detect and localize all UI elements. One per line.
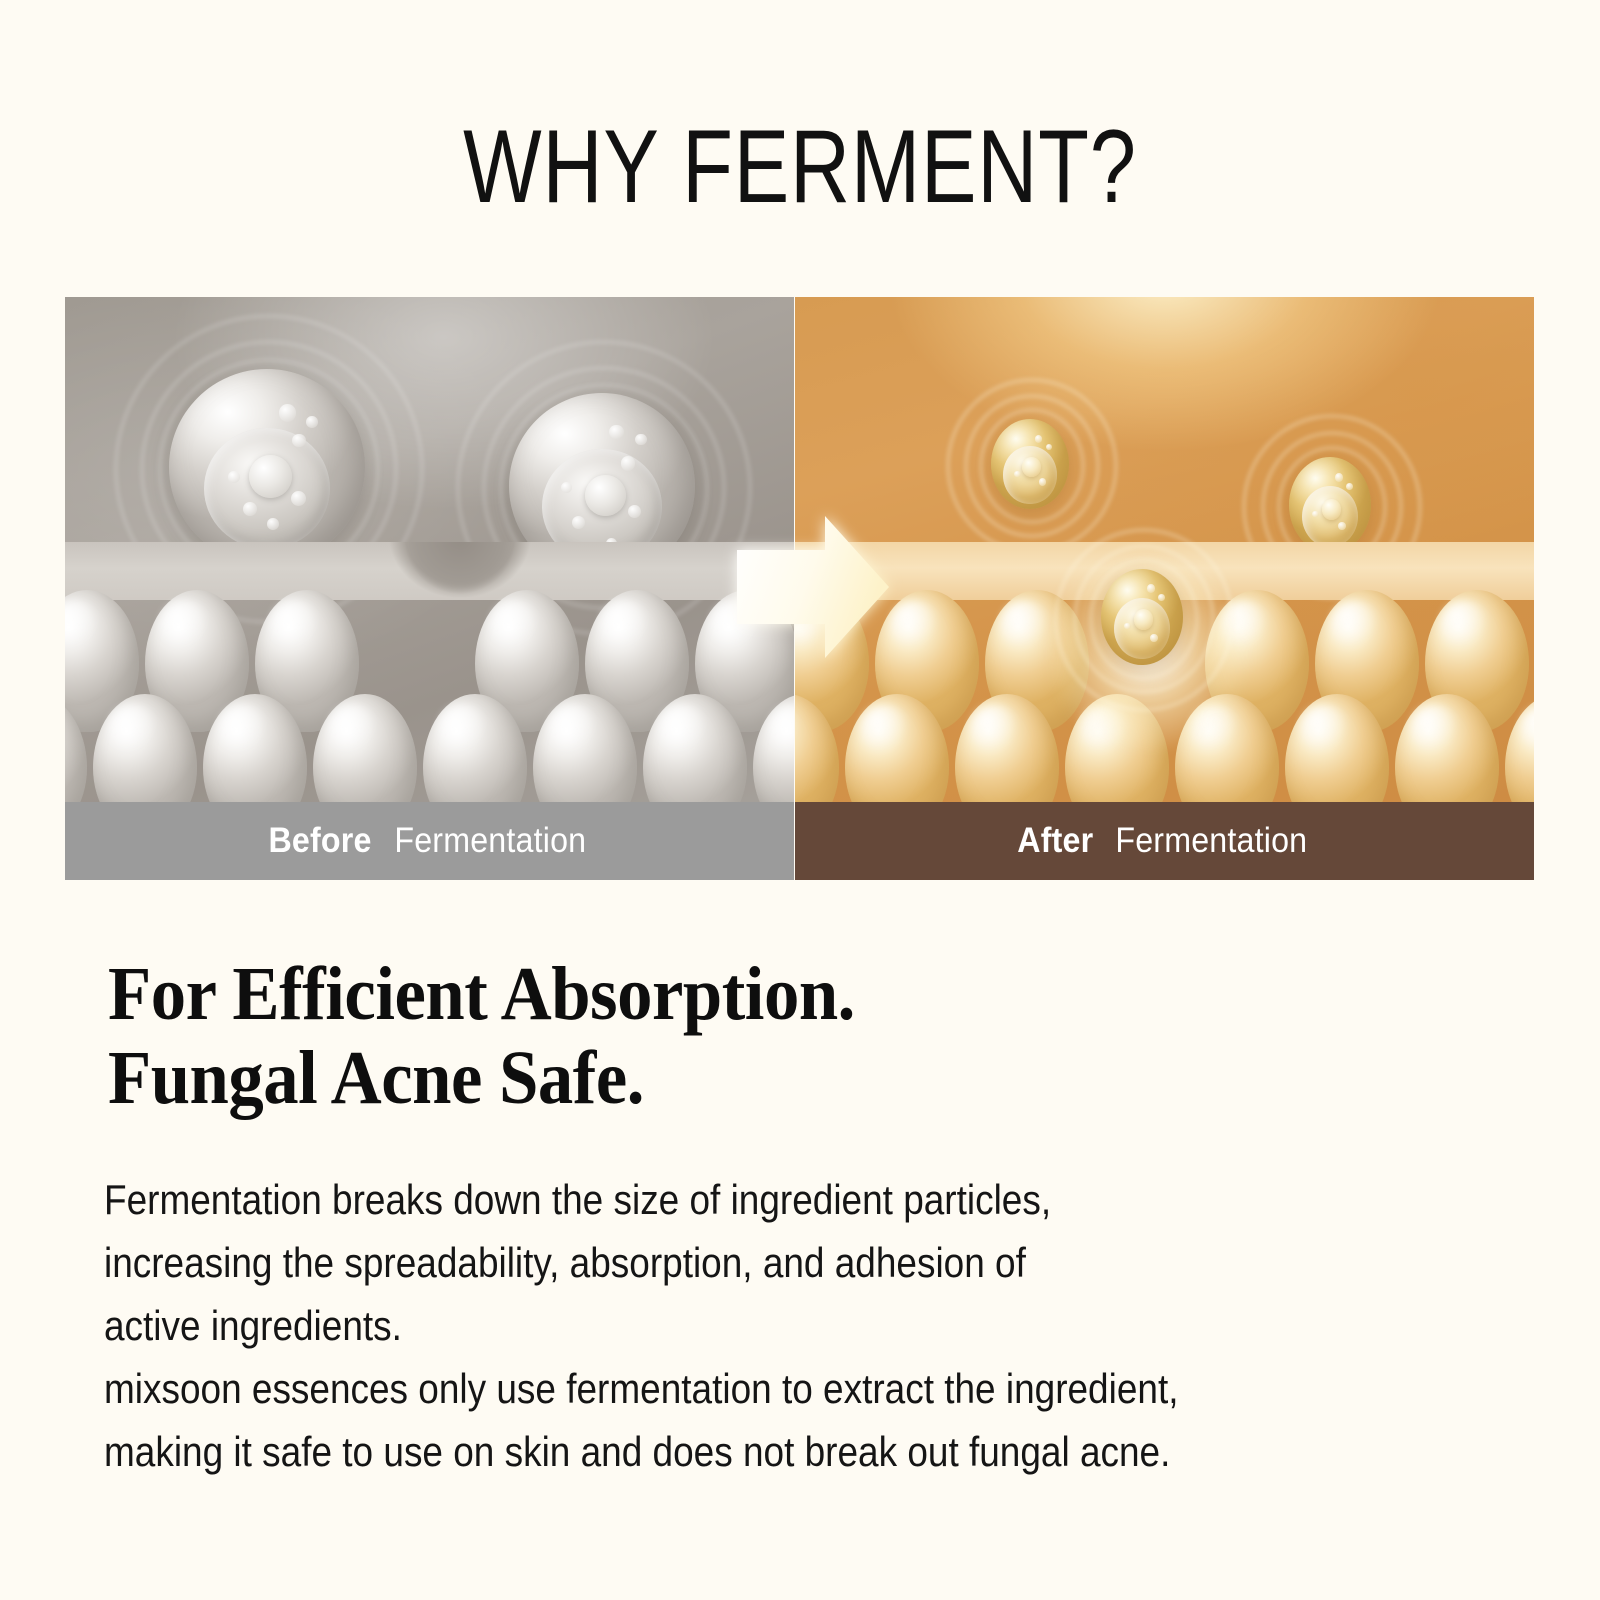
micro-bubble xyxy=(609,425,624,440)
body-copy: Fermentation breaks down the size of ing… xyxy=(104,1168,1354,1483)
molecule-body xyxy=(991,419,1069,509)
skin-cell xyxy=(203,694,307,802)
molecule-gold-1 xyxy=(991,419,1069,509)
micro-bubble xyxy=(628,505,641,518)
headline-line-1: For Efficient Absorption. xyxy=(108,952,1410,1036)
transition-arrow xyxy=(713,492,903,682)
body-line: making it safe to use on skin and does n… xyxy=(104,1420,1354,1483)
skin-cell xyxy=(65,694,87,802)
after-caption-bar: After Fermentation xyxy=(795,802,1534,880)
molecule-body xyxy=(1289,457,1371,553)
micro-bubble xyxy=(572,516,585,529)
micro-bubble xyxy=(1150,634,1157,642)
micro-bubble xyxy=(228,471,240,483)
micro-bubble xyxy=(279,404,297,422)
body-line: increasing the spreadability, absorption… xyxy=(104,1231,1354,1294)
body-line: mixsoon essences only use fermentation t… xyxy=(104,1357,1354,1420)
page-title: WHY FERMENT? xyxy=(160,108,1440,227)
micro-bubble xyxy=(1046,444,1052,450)
micro-bubble xyxy=(1338,522,1345,530)
body-line: active ingredients. xyxy=(104,1294,1354,1357)
micro-bubble xyxy=(1312,511,1319,518)
after-caption-strong: After xyxy=(1017,821,1093,861)
micro-bubble xyxy=(1039,478,1046,485)
skin-cell xyxy=(795,694,839,802)
micro-bubble xyxy=(1035,435,1043,443)
molecule-gold-penetrating xyxy=(1101,569,1183,665)
micro-bubble xyxy=(1124,623,1131,630)
skin-cell xyxy=(533,694,637,802)
skin-cell xyxy=(1395,694,1499,802)
skin-cell xyxy=(845,694,949,802)
skin-cell xyxy=(1505,694,1534,802)
micro-bubble xyxy=(1158,594,1165,601)
before-after-comparison: Before Fermentation xyxy=(65,297,1534,880)
molecule-body xyxy=(1101,569,1183,665)
after-illustration xyxy=(795,297,1534,802)
after-caption-normal: Fermentation xyxy=(1115,821,1307,861)
micro-bubble xyxy=(267,518,279,530)
skin-cell xyxy=(955,694,1059,802)
before-skin-barrier xyxy=(65,542,794,802)
before-caption-strong: Before xyxy=(269,821,372,861)
micro-bubble xyxy=(306,416,318,428)
skin-cell xyxy=(423,694,527,802)
micro-bubble xyxy=(1335,473,1343,482)
body-line: Fermentation breaks down the size of ing… xyxy=(104,1168,1354,1231)
headline-line-2: Fungal Acne Safe. xyxy=(108,1036,1410,1120)
molecule-gold-2 xyxy=(1289,457,1371,553)
skin-cell xyxy=(93,694,197,802)
skin-cell xyxy=(753,694,794,802)
micro-bubble xyxy=(635,434,646,445)
skin-cell-row-bottom xyxy=(65,694,794,802)
molecule-body xyxy=(169,369,365,565)
skin-cell xyxy=(313,694,417,802)
before-illustration xyxy=(65,297,794,802)
before-panel: Before Fermentation xyxy=(65,297,794,880)
micro-bubble xyxy=(1147,584,1155,593)
section-headline: For Efficient Absorption. Fungal Acne Sa… xyxy=(108,952,1410,1120)
skin-cell xyxy=(1285,694,1389,802)
after-panel: After Fermentation xyxy=(795,297,1534,880)
molecule-core xyxy=(585,475,626,516)
skin-cell xyxy=(643,694,747,802)
before-caption-bar: Before Fermentation xyxy=(65,802,794,880)
molecule-core xyxy=(1022,457,1041,477)
micro-bubble xyxy=(1346,483,1353,490)
molecule-gray-1 xyxy=(169,369,365,565)
arrow-right-icon xyxy=(713,492,903,682)
before-caption-normal: Fermentation xyxy=(395,821,587,861)
